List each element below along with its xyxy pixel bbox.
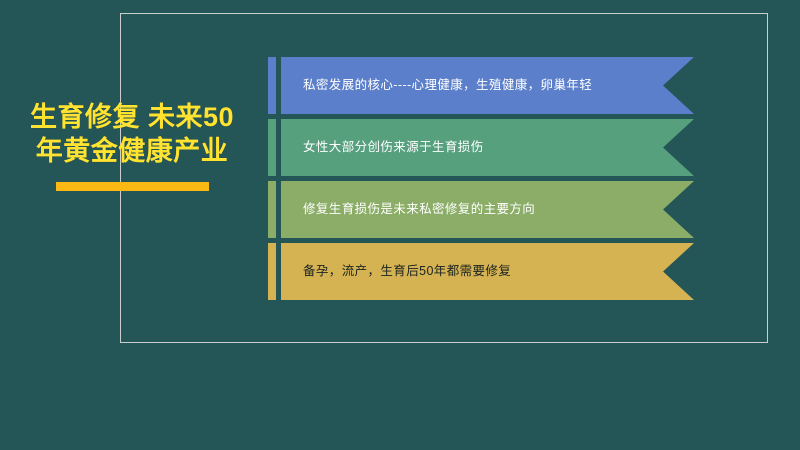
title-underline-rule: [56, 182, 209, 191]
ribbon-bar-list: 私密发展的核心----心理健康，生殖健康，卵巢年轻 女性大部分创伤来源于生育损伤…: [268, 57, 694, 305]
ribbon-label: 修复生育损伤是未来私密修复的主要方向: [281, 201, 535, 217]
ribbon-label: 女性大部分创伤来源于生育损伤: [281, 139, 484, 155]
list-item[interactable]: 备孕，流产，生育后50年都需要修复: [268, 243, 694, 300]
ribbon-banner[interactable]: 私密发展的核心----心理健康，生殖健康，卵巢年轻: [281, 57, 694, 114]
ribbon-accent-tab: [268, 243, 276, 300]
ribbon-banner[interactable]: 女性大部分创伤来源于生育损伤: [281, 119, 694, 176]
ribbon-banner[interactable]: 备孕，流产，生育后50年都需要修复: [281, 243, 694, 300]
page-title: 生育修复 未来50年黄金健康产业: [18, 100, 246, 168]
ribbon-accent-tab: [268, 181, 276, 238]
ribbon-label: 备孕，流产，生育后50年都需要修复: [281, 263, 511, 279]
ribbon-accent-tab: [268, 57, 276, 114]
title-block: 生育修复 未来50年黄金健康产业: [18, 100, 246, 191]
ribbon-banner[interactable]: 修复生育损伤是未来私密修复的主要方向: [281, 181, 694, 238]
list-item[interactable]: 女性大部分创伤来源于生育损伤: [268, 119, 694, 176]
slide-canvas: 生育修复 未来50年黄金健康产业 私密发展的核心----心理健康，生殖健康，卵巢…: [0, 0, 800, 450]
ribbon-accent-tab: [268, 119, 276, 176]
list-item[interactable]: 私密发展的核心----心理健康，生殖健康，卵巢年轻: [268, 57, 694, 114]
ribbon-label: 私密发展的核心----心理健康，生殖健康，卵巢年轻: [281, 77, 592, 93]
list-item[interactable]: 修复生育损伤是未来私密修复的主要方向: [268, 181, 694, 238]
